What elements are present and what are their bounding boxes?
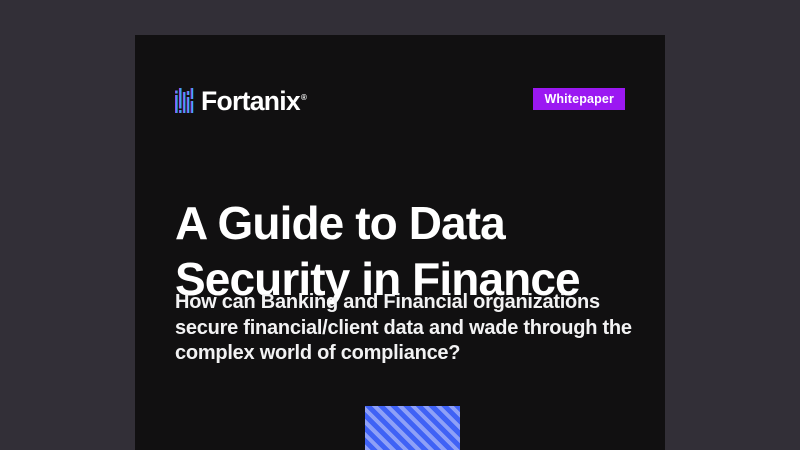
- whitepaper-badge-label: Whitepaper: [544, 92, 614, 106]
- fortanix-bars-logo-icon: [175, 88, 196, 113]
- whitepaper-badge[interactable]: Whitepaper: [533, 88, 625, 110]
- document-subtitle: How can Banking and Financial organizati…: [175, 290, 637, 367]
- registered-trademark-symbol: ®: [301, 93, 307, 102]
- screenshot-viewport: Fortanix® Whitepaper A Guide to Data Sec…: [0, 0, 800, 450]
- document-header: Fortanix® Whitepaper: [175, 82, 625, 116]
- document-cover-card: Fortanix® Whitepaper A Guide to Data Sec…: [135, 35, 665, 450]
- fortanix-brand-logo[interactable]: Fortanix®: [175, 84, 307, 114]
- fortanix-wordmark: Fortanix®: [201, 88, 307, 114]
- diagonal-stripe-graphic: [365, 406, 460, 450]
- fortanix-wordmark-text: Fortanix: [201, 86, 300, 116]
